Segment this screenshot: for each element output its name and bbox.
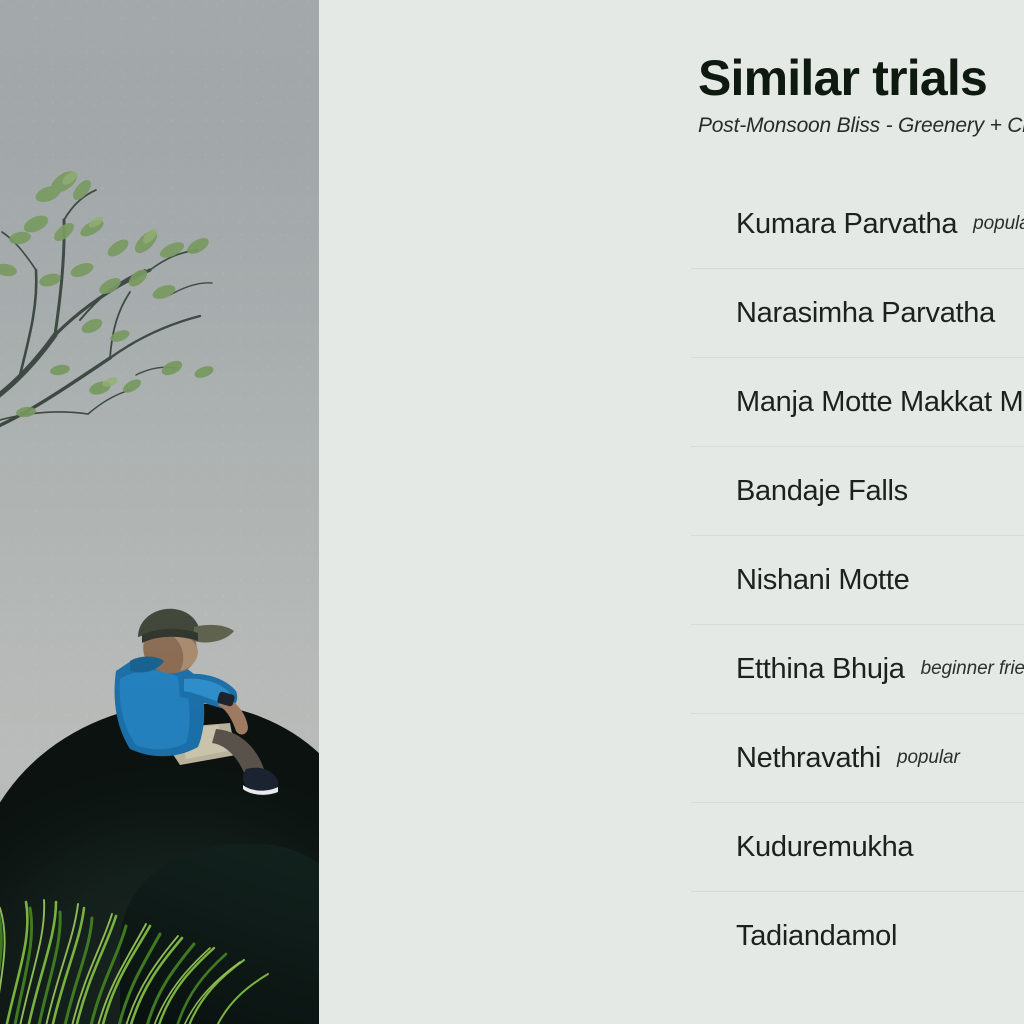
trail-name: Kumara Parvatha [736, 208, 957, 241]
similar-trials-card: Similar trials Post-Monsoon Bliss - Gree… [0, 0, 1024, 1024]
page-subtitle: Post-Monsoon Bliss - Greenery + Clear Sk… [698, 105, 1024, 138]
trail-name: Kuduremukha [736, 831, 913, 864]
trail-list: Kumara Parvatha popular Narasimha Parvat… [691, 180, 1024, 981]
trail-tag: popular [973, 213, 1024, 235]
list-item[interactable]: Narasimha Parvatha [691, 269, 1024, 358]
trail-name: Nethravathi [736, 742, 881, 775]
trail-tag: popular [897, 747, 960, 769]
list-item[interactable]: Nethravathi popular [691, 714, 1024, 803]
list-item[interactable]: Kuduremukha [691, 803, 1024, 892]
trail-name: Etthina Bhuja [736, 653, 905, 686]
trail-name: Narasimha Parvatha [736, 297, 995, 330]
trail-photo [0, 0, 319, 1024]
list-item[interactable]: Bandaje Falls [691, 447, 1024, 536]
list-item[interactable]: Manja Motte Makkat Motte offbeat [691, 358, 1024, 447]
list-item[interactable]: Tadiandamol [691, 892, 1024, 981]
trail-name: Bandaje Falls [736, 475, 908, 508]
list-item[interactable]: Etthina Bhuja beginner friendly [691, 625, 1024, 714]
similar-trials-panel: Similar trials Post-Monsoon Bliss - Gree… [319, 0, 1024, 1024]
panel-header: Similar trials Post-Monsoon Bliss - Gree… [698, 0, 1024, 138]
trail-name: Nishani Motte [736, 564, 909, 597]
trail-name: Manja Motte Makkat Motte [736, 386, 1024, 419]
trail-name: Tadiandamol [736, 920, 897, 953]
list-item[interactable]: Kumara Parvatha popular [691, 180, 1024, 269]
grass-tufts [0, 760, 310, 1024]
list-item[interactable]: Nishani Motte [691, 536, 1024, 625]
trail-tag: beginner friendly [921, 658, 1024, 680]
page-title: Similar trials [698, 0, 1024, 105]
tree-branch-illustration [0, 120, 240, 450]
